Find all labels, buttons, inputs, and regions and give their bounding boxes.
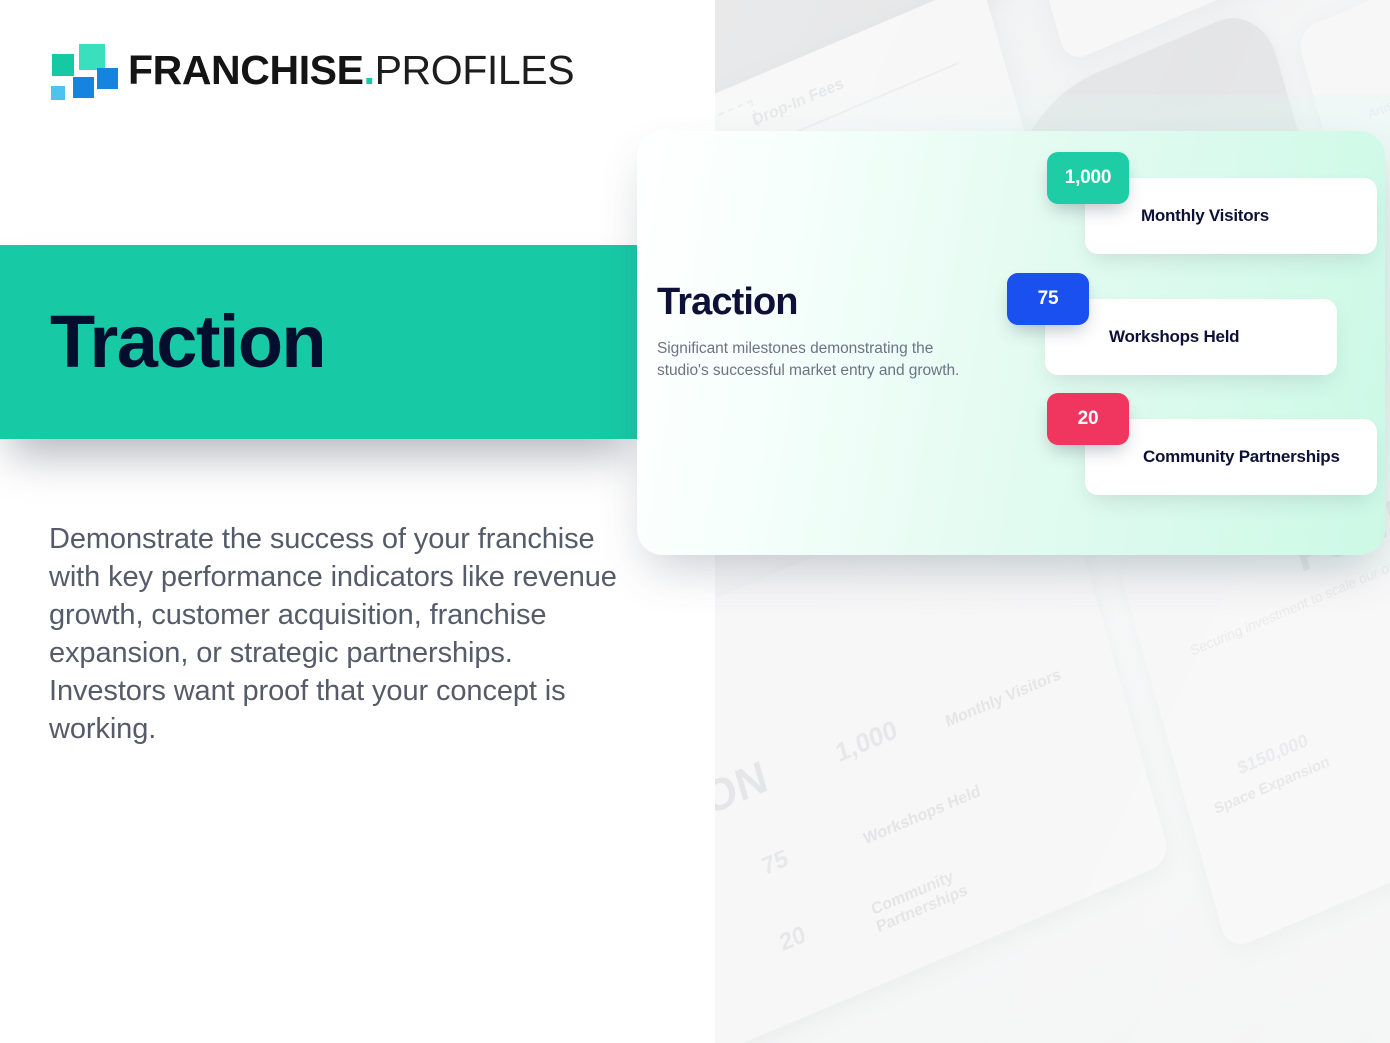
stat-row-workshops-held: Workshops Held 75 xyxy=(1007,299,1337,375)
background-stat-label-2: Workshops Held xyxy=(862,783,983,850)
slide-canvas: Lack of Accessibility High Cost Limited … xyxy=(0,0,1390,1043)
background-stat-label-3: Community Partnerships xyxy=(870,859,981,937)
stat-row-community-partnerships: Community Partnerships 20 xyxy=(1047,419,1377,495)
traction-preview-card: Traction Significant milestones demonstr… xyxy=(637,131,1385,555)
card-text-block: Traction Significant milestones demonstr… xyxy=(657,283,977,382)
stat-row-monthly-visitors: Monthly Visitors 1,000 xyxy=(1047,178,1377,254)
stat-label-workshops-held: Workshops Held xyxy=(1109,327,1239,348)
background-stat-value-1: 1,000 xyxy=(832,714,901,769)
logo-word-franchise: FRANCHISE xyxy=(128,47,364,93)
section-description: Demonstrate the success of your franchis… xyxy=(49,521,629,749)
background-stat-value-2: 75 xyxy=(759,845,791,883)
logo-word-dot: . xyxy=(364,47,375,93)
background-stat-label-1: Monthly Visitors xyxy=(944,666,1063,732)
logo-square-teal-light xyxy=(79,44,105,70)
background-label-drop-in-fees: Drop-In Fees xyxy=(751,75,846,131)
stat-badge-monthly-visitors: 1,000 xyxy=(1047,152,1129,204)
background-stat-value-3: 20 xyxy=(777,921,809,959)
stat-label-monthly-visitors: Monthly Visitors xyxy=(1141,206,1269,227)
logo-wordmark: FRANCHISE.PROFILES xyxy=(128,50,574,91)
stat-badge-workshops-held: 75 xyxy=(1007,273,1089,325)
stat-badge-community-partnerships: 20 xyxy=(1047,393,1129,445)
stat-value-community-partnerships: 20 xyxy=(1078,408,1099,430)
logo-word-profiles: PROFILES xyxy=(375,47,575,93)
logo-squares-icon xyxy=(48,42,106,98)
logo-square-teal-dark xyxy=(52,54,74,76)
stat-label-community-partnerships: Community Partnerships xyxy=(1143,447,1340,468)
card-title: Traction xyxy=(657,283,977,321)
page-title: Traction xyxy=(50,305,325,379)
logo-square-blue-left xyxy=(73,77,94,98)
logo-square-blue-right xyxy=(97,68,118,89)
brand-logo[interactable]: FRANCHISE.PROFILES xyxy=(48,42,574,98)
background-slide-title-competition: COMPETITION xyxy=(1338,0,1390,100)
logo-square-sky xyxy=(51,86,65,100)
section-banner: Traction xyxy=(0,245,638,439)
stat-value-monthly-visitors: 1,000 xyxy=(1065,167,1112,189)
card-subtitle: Significant milestones demonstrating the… xyxy=(657,338,977,382)
stat-value-workshops-held: 75 xyxy=(1038,288,1059,310)
